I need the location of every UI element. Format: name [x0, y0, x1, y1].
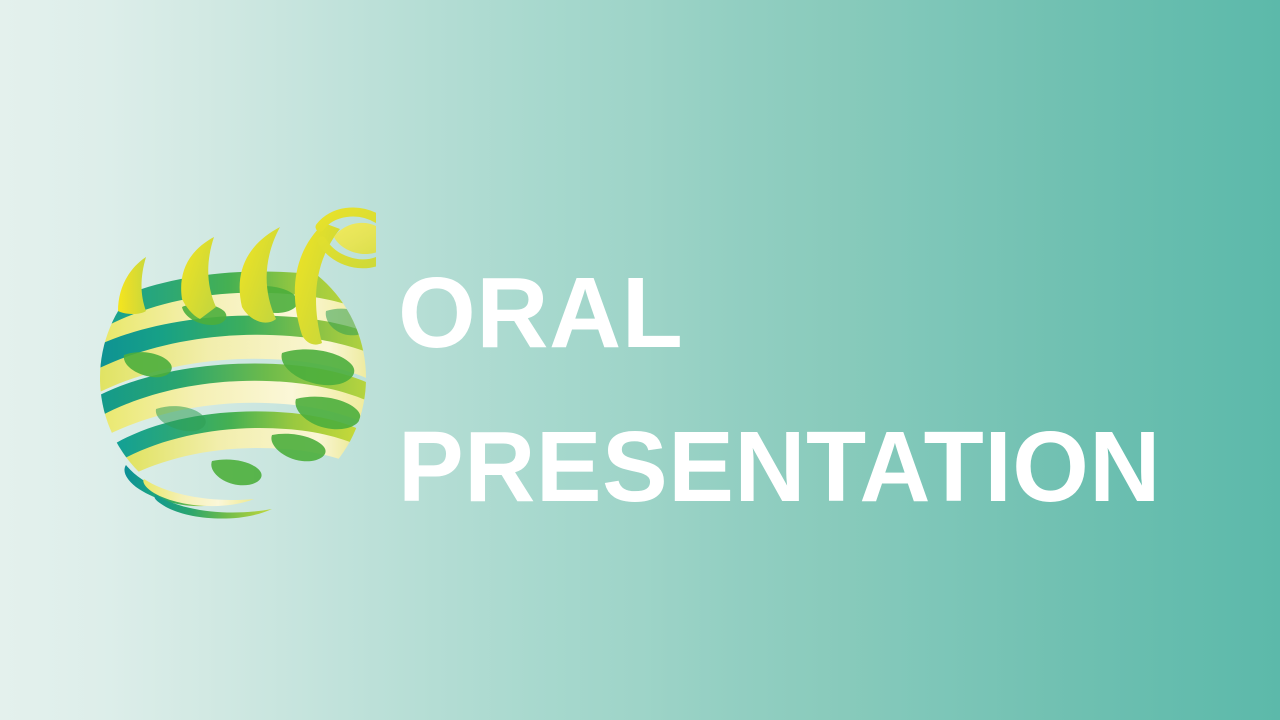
- title-line-presentation: PRESENTATION: [398, 390, 1186, 544]
- globe-leaf-fill: [334, 223, 376, 254]
- slide-title: ORAL PRESENTATION: [398, 236, 1198, 544]
- globe-coil-yellow-left: [118, 257, 146, 314]
- logo-svg: [96, 203, 376, 523]
- slide-canvas: ORAL PRESENTATION: [0, 0, 1280, 720]
- title-line-oral: ORAL: [398, 236, 1198, 390]
- ribbon-globe-leaf-logo: [96, 203, 376, 523]
